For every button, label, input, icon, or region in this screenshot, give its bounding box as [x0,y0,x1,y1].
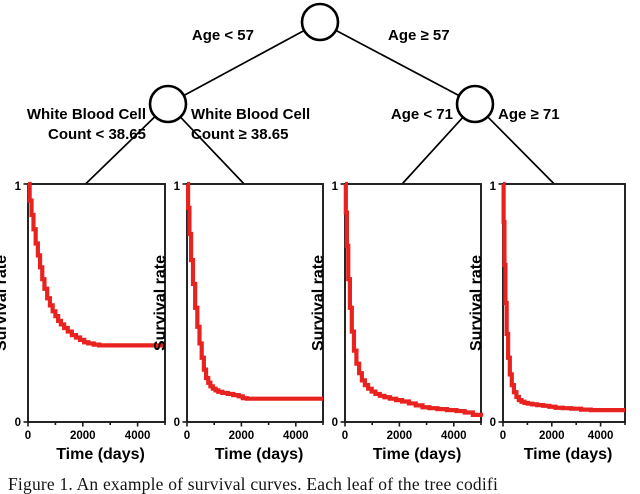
edge-label-age-ge-71: Age ≥ 71 [498,106,560,123]
x-ticklabel-3-1: 2000 [387,430,413,442]
y-axis-title-3: Survival rate [310,255,327,351]
edge-label-wbc-lt-line1: White Blood Cell [27,106,146,123]
survival-plot-2: 02000400001Survival rateTime (days) [152,181,323,463]
x-axis-title-1: Time (days) [56,446,145,463]
y-axis-title-2: Survival rate [152,255,169,351]
tree-edge-labels: Age < 57Age ≥ 57White Blood CellCount < … [27,27,560,143]
edge-label-wbc-ge-line1: White Blood Cell [191,106,310,123]
edge-age71-right [488,117,555,184]
edge-label-age-ge-57: Age ≥ 57 [388,27,450,44]
y-ticklabel-2-1: 1 [174,181,181,193]
y-axis-title-4: Survival rate [468,255,485,351]
x-ticklabel-4-0: 0 [500,430,506,442]
x-ticklabel-3-0: 0 [342,430,348,442]
x-ticklabel-4-1: 2000 [539,430,565,442]
edge-label-wbc-lt-line2: Count < 38.65 [48,126,146,143]
x-ticklabel-2-1: 2000 [229,430,255,442]
plot-frame-2 [187,184,323,422]
y-ticklabel-1-0: 0 [15,417,21,429]
survival-plot-4: 02000400001Survival rateTime (days) [468,181,625,463]
survival-plot-1: 02000400001Survival rateTime (days) [0,181,165,463]
tree-survival-figure: Age < 57Age ≥ 57White Blood CellCount < … [0,0,640,494]
survival-plots: 02000400001Survival rateTime (days)02000… [0,181,625,463]
edge-label-wbc-ge-line2: Count ≥ 38.65 [191,126,288,143]
internal-node-wbc[interactable] [150,86,186,122]
x-ticklabel-1-0: 0 [25,430,31,442]
y-ticklabel-4-0: 0 [490,417,496,429]
y-ticklabel-4-1: 1 [490,181,497,193]
edge-age71-left [402,117,463,184]
internal-node-age71[interactable] [457,86,493,122]
x-axis-title-4: Time (days) [524,446,613,463]
edge-label-age-lt-57: Age < 57 [192,27,254,44]
y-axis-title-1: Survival rate [0,255,10,351]
x-axis-title-3: Time (days) [373,446,462,463]
y-ticklabel-1-1: 1 [15,181,22,193]
figure-caption: Figure 1. An example of survival curves.… [8,474,632,494]
edge-label-age-lt-71: Age < 71 [391,106,453,123]
figure-caption-clip: Figure 1. An example of survival curves.… [0,474,640,494]
plot-frame-4 [503,184,625,422]
figure-container: Age < 57Age ≥ 57White Blood CellCount < … [0,0,640,494]
y-ticklabel-3-0: 0 [332,417,338,429]
tree-nodes [150,4,493,122]
x-ticklabel-4-2: 4000 [588,430,614,442]
x-ticklabel-2-0: 0 [184,430,190,442]
x-ticklabel-2-2: 4000 [283,430,309,442]
survival-plot-3: 02000400001Survival rateTime (days) [310,181,481,463]
root-node[interactable] [302,4,338,40]
y-ticklabel-3-1: 1 [332,181,339,193]
x-ticklabel-1-2: 4000 [125,430,151,442]
x-ticklabel-1-1: 2000 [70,430,96,442]
x-ticklabel-3-2: 4000 [441,430,467,442]
x-axis-title-2: Time (days) [215,446,304,463]
y-ticklabel-2-0: 0 [174,417,180,429]
